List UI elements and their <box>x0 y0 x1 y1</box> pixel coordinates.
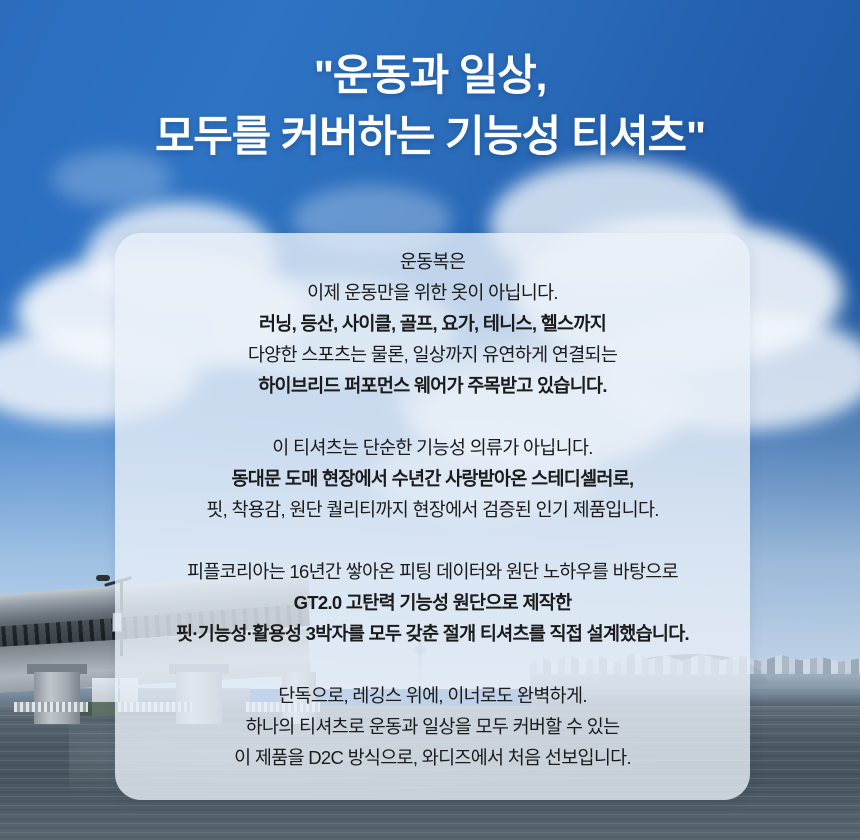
body-line: GT2.0 고탄력 기능성 원단으로 제작한 <box>115 587 750 618</box>
body-paragraph: 피플코리아는 16년간 쌓아온 피팅 데이터와 원단 노하우를 바탕으로GT2.… <box>115 556 750 649</box>
body-paragraph: 단독으로, 레깅스 위에, 이너로도 완벽하게.하나의 티셔츠로 운동과 일상을… <box>115 680 750 773</box>
page-title: "운동과 일상, 모두를 커버하는 기능성 티셔츠" <box>0 46 860 168</box>
body-line: 이 티셔츠는 단순한 기능성 의류가 아닙니다. <box>115 432 750 463</box>
body-line: 동대문 도매 현장에서 수년간 사랑받아온 스테디셀러로, <box>115 463 750 494</box>
description-card: 운동복은이제 운동만을 위한 옷이 아닙니다.러닝, 등산, 사이클, 골프, … <box>115 233 750 800</box>
bridge-pier <box>34 672 80 724</box>
body-line: 핏·기능성·활용성 3박자를 모두 갖춘 절개 티셔츠를 직접 설계했습니다. <box>115 618 750 649</box>
street-lamp-icon <box>96 575 110 581</box>
body-paragraph: 운동복은이제 운동만을 위한 옷이 아닙니다.러닝, 등산, 사이클, 골프, … <box>115 246 750 401</box>
body-line: 이 제품을 D2C 방식으로, 와디즈에서 처음 선보입니다. <box>115 742 750 773</box>
body-line: 피플코리아는 16년간 쌓아온 피팅 데이터와 원단 노하우를 바탕으로 <box>115 556 750 587</box>
promo-banner: "운동과 일상, 모두를 커버하는 기능성 티셔츠" 운동복은이제 운동만을 위… <box>0 0 860 840</box>
body-copy: 운동복은이제 운동만을 위한 옷이 아닙니다.러닝, 등산, 사이클, 골프, … <box>115 246 750 773</box>
bridge-railing <box>14 702 88 712</box>
body-line: 하나의 티셔츠로 운동과 일상을 모두 커버할 수 있는 <box>115 711 750 742</box>
body-line: 운동복은 <box>115 246 750 277</box>
body-line: 다양한 스포츠는 물론, 일상까지 유연하게 연결되는 <box>115 339 750 370</box>
body-paragraph: 이 티셔츠는 단순한 기능성 의류가 아닙니다.동대문 도매 현장에서 수년간 … <box>115 432 750 525</box>
body-line: 단독으로, 레깅스 위에, 이너로도 완벽하게. <box>115 680 750 711</box>
body-line: 핏, 착용감, 원단 퀄리티까지 현장에서 검증된 인기 제품입니다. <box>115 494 750 525</box>
body-line: 이제 운동만을 위한 옷이 아닙니다. <box>115 277 750 308</box>
body-line: 하이브리드 퍼포먼스 웨어가 주목받고 있습니다. <box>115 370 750 401</box>
body-line: 러닝, 등산, 사이클, 골프, 요가, 테니스, 헬스까지 <box>115 308 750 339</box>
